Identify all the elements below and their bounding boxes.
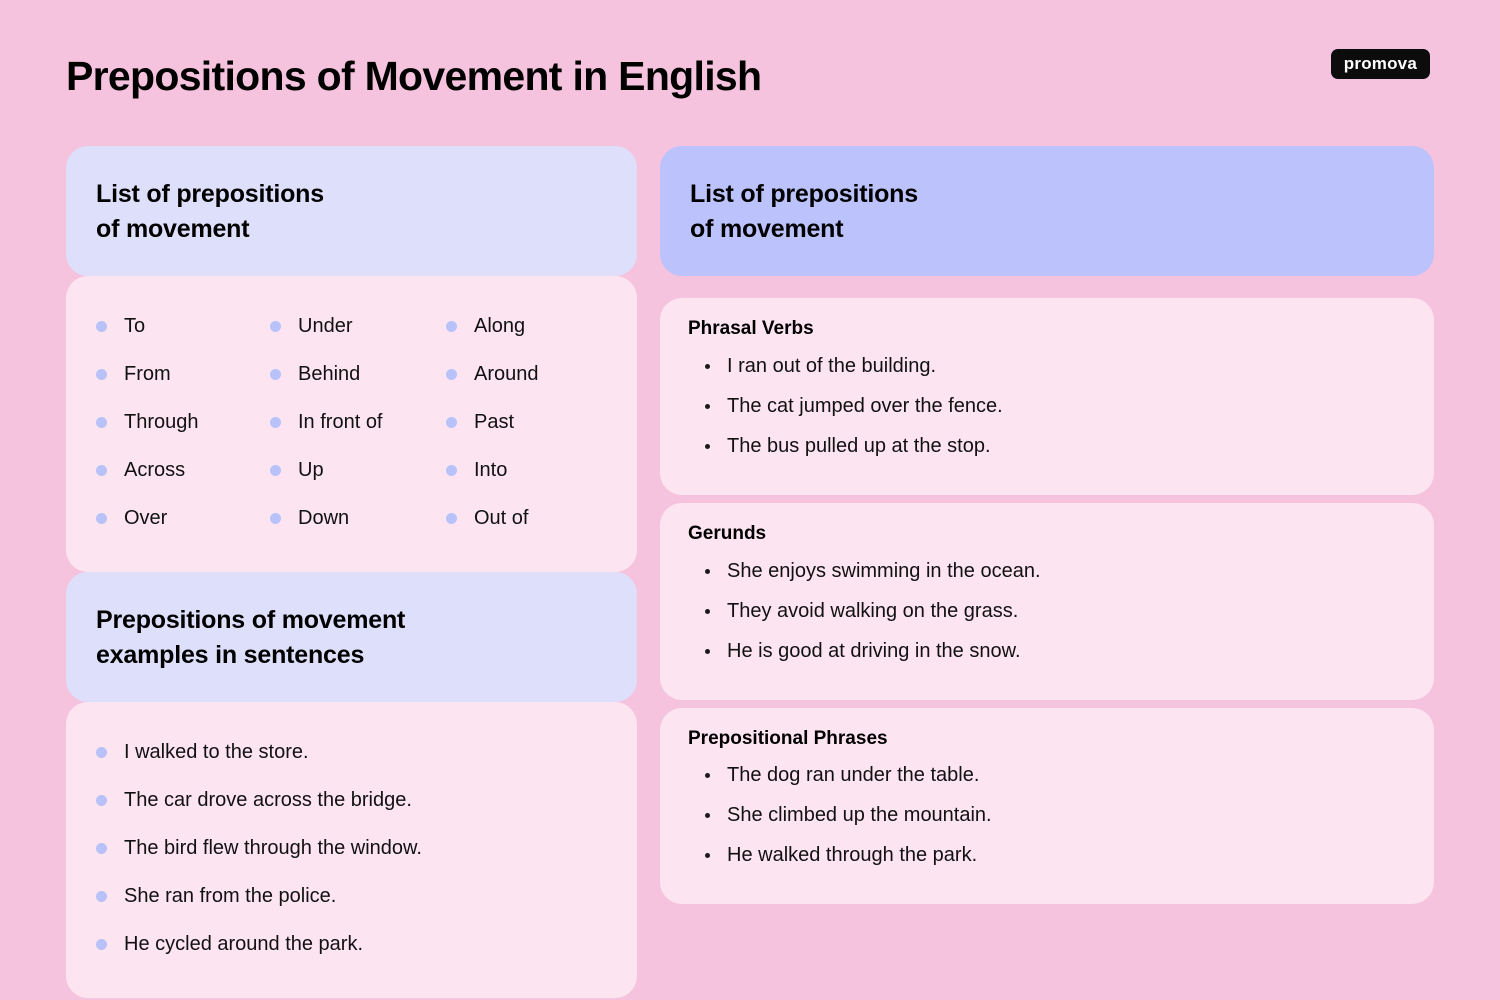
right-column: List of prepositions of movement Phrasal… [660, 146, 1434, 956]
list-item: The bird flew through the window. [96, 824, 607, 872]
small-dot-bullet-icon [705, 569, 710, 574]
dot-bullet-icon [446, 465, 457, 476]
preposition-label: Over [124, 506, 167, 530]
group-card-prepositional-phrases: Prepositional Phrases The dog ran under … [660, 708, 1434, 905]
example-sentence: I walked to the store. [124, 740, 309, 765]
small-dot-bullet-icon [705, 404, 710, 409]
small-dot-bullet-icon [705, 609, 710, 614]
list-item: The cat jumped over the fence. [688, 393, 1408, 433]
list-item: I ran out of the building. [688, 353, 1408, 393]
list-item: She enjoys swimming in the ocean. [688, 558, 1408, 598]
dot-bullet-icon [446, 417, 457, 428]
small-dot-bullet-icon [705, 364, 710, 369]
dot-bullet-icon [96, 795, 107, 806]
preposition-label: Into [474, 458, 507, 482]
preposition-label: Under [298, 314, 352, 338]
preposition-item: Through [96, 398, 270, 446]
promova-logo-text: promova [1344, 55, 1417, 72]
group-card-gerunds: Gerunds She enjoys swimming in the ocean… [660, 503, 1434, 700]
group-item-text: The bus pulled up at the stop. [727, 433, 991, 460]
preposition-item: Up [270, 446, 446, 494]
dot-bullet-icon [446, 321, 457, 332]
preposition-item: From [96, 350, 270, 398]
preposition-label: Across [124, 458, 185, 482]
section-header-right-list-title: List of prepositions of movement [690, 177, 1404, 246]
small-dot-bullet-icon [705, 773, 710, 778]
group-item-text: The dog ran under the table. [727, 762, 979, 789]
section-header-prepositions-list: List of prepositions of movement [66, 146, 637, 276]
small-dot-bullet-icon [705, 813, 710, 818]
dot-bullet-icon [446, 513, 457, 524]
prepositions-grid-card: To Under Along From Behind [66, 276, 637, 572]
left-column: List of prepositions of movement To Unde… [66, 146, 637, 956]
list-item: The dog ran under the table. [688, 762, 1408, 802]
group-title: Gerunds [688, 523, 1408, 546]
dot-bullet-icon [96, 939, 107, 950]
example-sentence: She ran from the police. [124, 884, 336, 909]
dot-bullet-icon [270, 369, 281, 380]
preposition-label: To [124, 314, 145, 338]
example-sentence: The car drove across the bridge. [124, 788, 412, 813]
preposition-item: In front of [270, 398, 446, 446]
content-board: List of prepositions of movement To Unde… [66, 146, 1434, 956]
preposition-item: Past [446, 398, 607, 446]
section-header-prepositions-list-title: List of prepositions of movement [96, 177, 607, 246]
preposition-item: Over [96, 494, 270, 542]
dot-bullet-icon [270, 321, 281, 332]
example-sentences-card: I walked to the store. The car drove acr… [66, 702, 637, 998]
section-header-examples-title: Prepositions of movement examples in sen… [96, 603, 607, 672]
preposition-item: Around [446, 350, 607, 398]
preposition-item: Into [446, 446, 607, 494]
preposition-item: Down [270, 494, 446, 542]
group-item-text: They avoid walking on the grass. [727, 598, 1018, 625]
group-item-text: He walked through the park. [727, 842, 977, 869]
dot-bullet-icon [270, 465, 281, 476]
group-item-text: He is good at driving in the snow. [727, 638, 1021, 665]
list-item: He walked through the park. [688, 842, 1408, 882]
group-item-text: She climbed up the mountain. [727, 802, 992, 829]
group-item-text: The cat jumped over the fence. [727, 393, 1003, 420]
preposition-label: Along [474, 314, 525, 338]
preposition-label: Around [474, 362, 539, 386]
dot-bullet-icon [96, 417, 107, 428]
section-header-right-list: List of prepositions of movement [660, 146, 1434, 276]
preposition-item: Across [96, 446, 270, 494]
preposition-item: Under [270, 302, 446, 350]
preposition-label: In front of [298, 410, 383, 434]
preposition-label: Down [298, 506, 349, 530]
example-sentence: He cycled around the park. [124, 932, 363, 957]
preposition-item: Along [446, 302, 607, 350]
example-sentences-list: I walked to the store. The car drove acr… [66, 702, 637, 998]
page-title: Prepositions of Movement in English [66, 56, 761, 97]
preposition-label: Out of [474, 506, 528, 530]
list-item: The bus pulled up at the stop. [688, 433, 1408, 473]
preposition-label: Behind [298, 362, 360, 386]
small-dot-bullet-icon [705, 444, 710, 449]
dot-bullet-icon [96, 321, 107, 332]
small-dot-bullet-icon [705, 649, 710, 654]
preposition-label: From [124, 362, 171, 386]
list-item: I walked to the store. [96, 728, 607, 776]
group-item-text: I ran out of the building. [727, 353, 936, 380]
dot-bullet-icon [446, 369, 457, 380]
preposition-label: Through [124, 410, 199, 434]
preposition-item: To [96, 302, 270, 350]
example-sentence: The bird flew through the window. [124, 836, 422, 861]
list-item: They avoid walking on the grass. [688, 598, 1408, 638]
group-item-text: She enjoys swimming in the ocean. [727, 558, 1041, 585]
preposition-item: Behind [270, 350, 446, 398]
dot-bullet-icon [96, 513, 107, 524]
prepositions-grid: To Under Along From Behind [66, 276, 637, 572]
dot-bullet-icon [96, 369, 107, 380]
group-title: Phrasal Verbs [688, 318, 1408, 341]
small-dot-bullet-icon [705, 853, 710, 858]
dot-bullet-icon [96, 465, 107, 476]
list-item: He cycled around the park. [96, 920, 607, 968]
preposition-item: Out of [446, 494, 607, 542]
page-header: Prepositions of Movement in English prom… [0, 0, 1500, 146]
promova-logo[interactable]: promova [1331, 49, 1430, 79]
preposition-label: Up [298, 458, 324, 482]
list-item: The car drove across the bridge. [96, 776, 607, 824]
list-item: She climbed up the mountain. [688, 802, 1408, 842]
preposition-label: Past [474, 410, 514, 434]
list-item: She ran from the police. [96, 872, 607, 920]
list-item: He is good at driving in the snow. [688, 638, 1408, 678]
dot-bullet-icon [96, 891, 107, 902]
section-header-examples: Prepositions of movement examples in sen… [66, 572, 637, 702]
dot-bullet-icon [270, 417, 281, 428]
dot-bullet-icon [96, 843, 107, 854]
group-title: Prepositional Phrases [688, 728, 1408, 751]
dot-bullet-icon [270, 513, 281, 524]
group-card-phrasal-verbs: Phrasal Verbs I ran out of the building.… [660, 298, 1434, 495]
dot-bullet-icon [96, 747, 107, 758]
